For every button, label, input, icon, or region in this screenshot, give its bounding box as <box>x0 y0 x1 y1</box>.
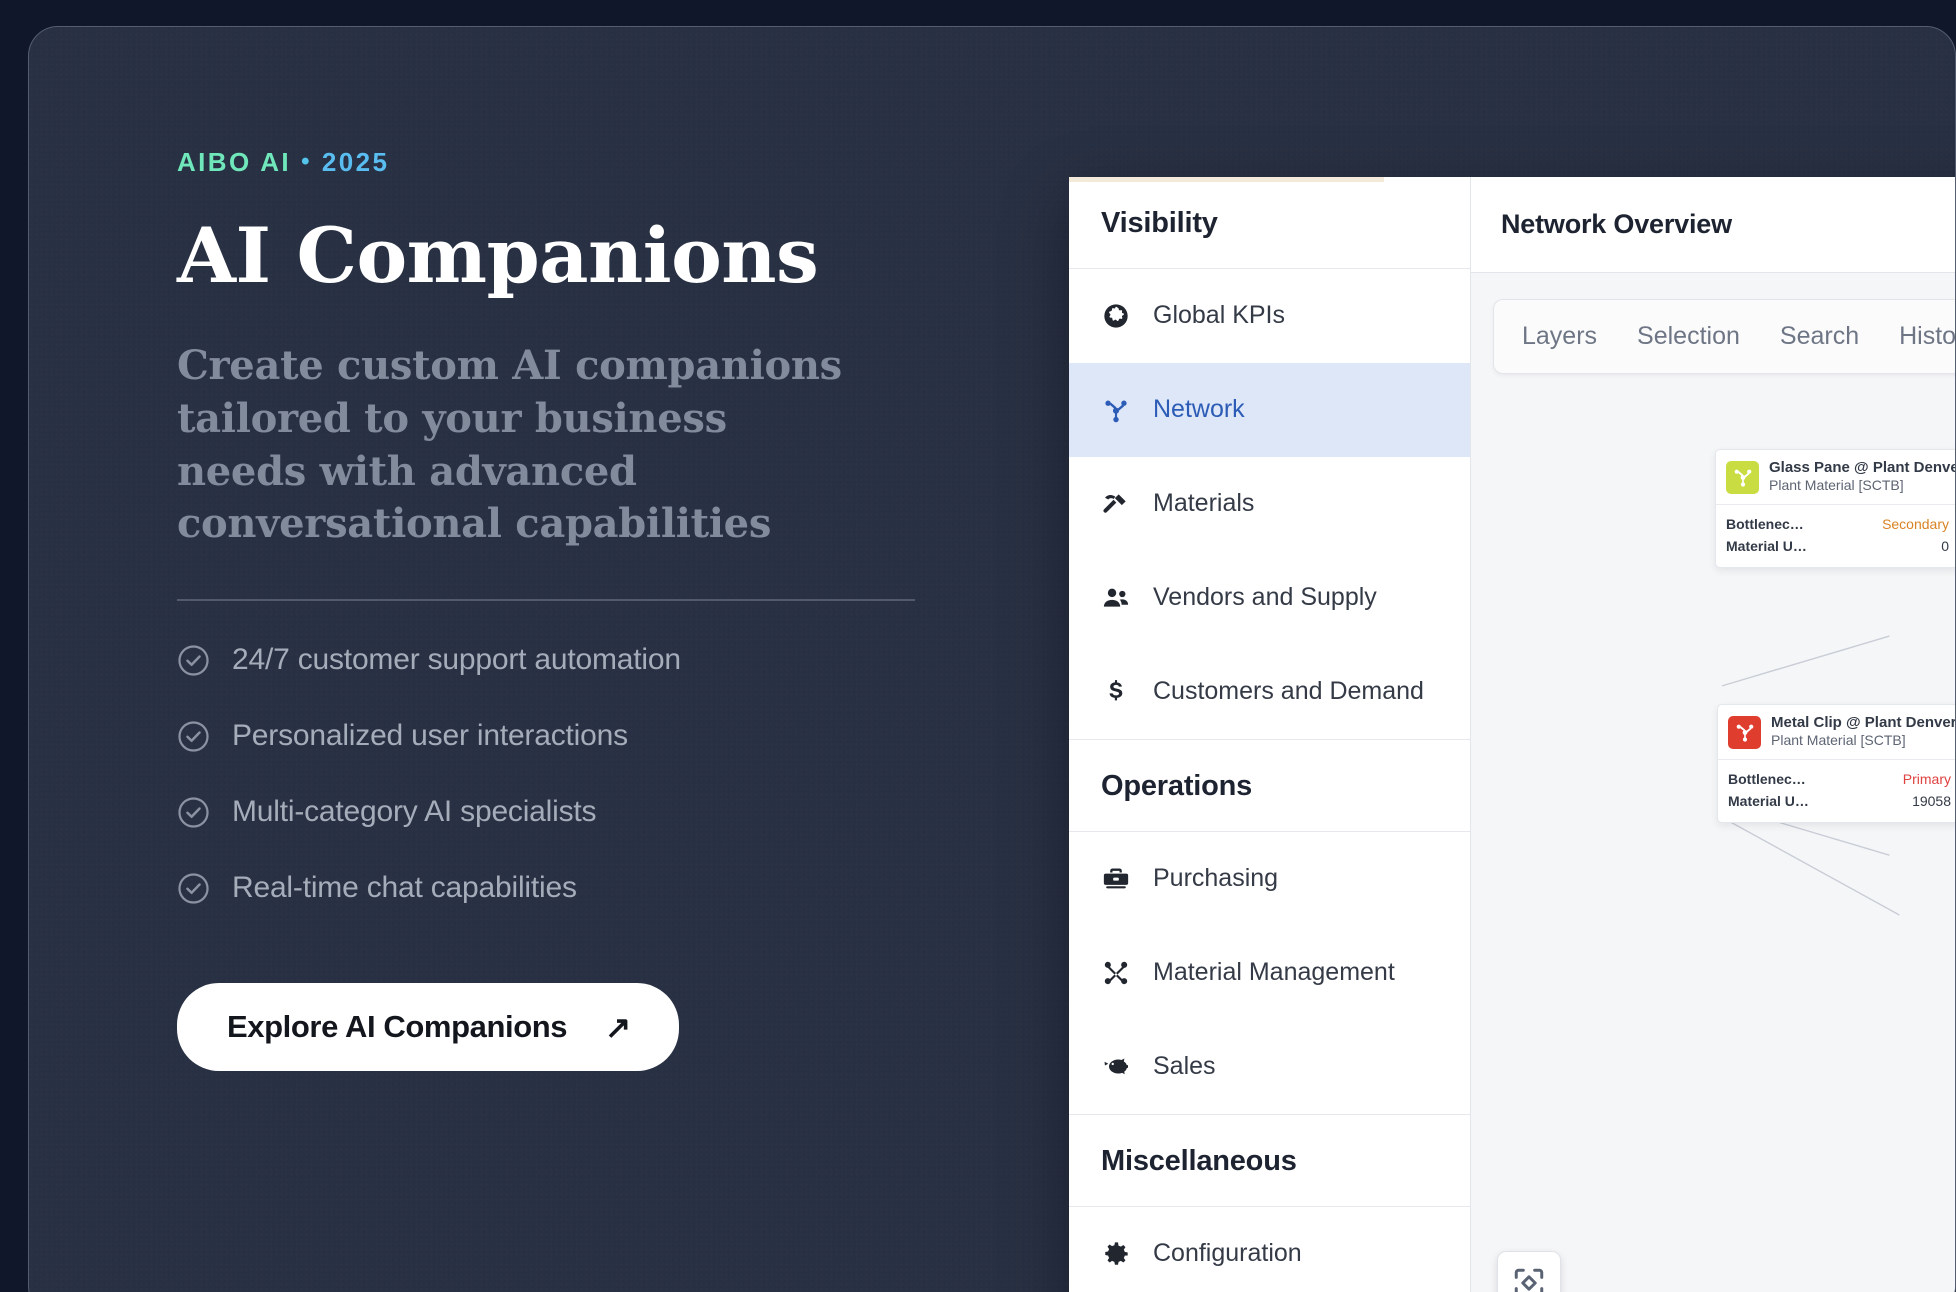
eyebrow-year: 2025 <box>322 147 389 177</box>
cta-label: Explore AI Companions <box>227 1009 567 1045</box>
list-item: Multi-category AI specialists <box>177 795 937 829</box>
node-metric-row: Bottlenec… Primary <box>1728 768 1951 790</box>
list-item-label: Personalized user interactions <box>232 719 628 753</box>
node-metrics: Bottlenec… Primary Material U… 19058 <box>1718 760 1956 822</box>
graph-toolbar-row: Layers Selection Search Histogram <box>1493 299 1956 374</box>
globe-icon <box>1101 301 1131 331</box>
hero-left-column: AIBO AI•2025 AI Companions Create custom… <box>177 147 937 1071</box>
circle-check-icon <box>177 720 210 753</box>
sidebar-item-vendors-and-supply[interactable]: Vendors and Supply <box>1069 551 1470 645</box>
sidebar-item-configuration[interactable]: Configuration <box>1069 1207 1470 1292</box>
app-main-area: Network Overview Layers Selection Search… <box>1471 177 1956 1292</box>
list-item-label: 24/7 customer support automation <box>232 643 681 677</box>
sidebar-item-label: Purchasing <box>1153 864 1278 893</box>
network-hub-icon <box>1728 716 1761 749</box>
gear-icon <box>1101 1239 1131 1269</box>
sidebar-item-label: Customers and Demand <box>1153 677 1424 706</box>
sidebar-item-network[interactable]: Network <box>1069 363 1470 457</box>
node-metrics: Bottlenec… Secondary Material U… 0 <box>1716 505 1956 567</box>
node-metric-row: Material U… 19058 <box>1728 790 1951 812</box>
graph-node-card[interactable]: Glass Pane @ Plant Denver Plant Material… <box>1715 449 1956 568</box>
eyebrow-brand: AIBO AI <box>177 147 291 177</box>
node-title-block: Metal Clip @ Plant Denver Plant Material… <box>1771 714 1951 750</box>
piggy-bank-icon <box>1101 1052 1131 1082</box>
network-graph-canvas[interactable]: Glass Pane @ Plant Denver Plant Material… <box>1471 387 1956 1292</box>
sidebar-item-label: Material Management <box>1153 958 1395 987</box>
toolbar-item-histogram[interactable]: Histogram <box>1899 322 1956 351</box>
eyebrow-separator-dot: • <box>301 148 312 175</box>
sidebar-item-sales[interactable]: Sales <box>1069 1020 1470 1114</box>
fit-to-screen-button[interactable] <box>1497 1251 1561 1292</box>
sidebar-item-customers-and-demand[interactable]: Customers and Demand <box>1069 645 1470 739</box>
fit-to-screen-icon <box>1512 1266 1546 1292</box>
app-preview-panel: Visibility Global KPIs <box>1069 177 1956 1292</box>
app-sidebar: Visibility Global KPIs <box>1069 177 1471 1292</box>
network-hub-icon <box>1101 395 1131 425</box>
node-metric-row: Bottlenec… Secondary <box>1726 513 1949 535</box>
sidebar-item-material-management[interactable]: Material Management <box>1069 926 1470 1020</box>
node-metric-value: 0 <box>1941 535 1949 557</box>
eyebrow: AIBO AI•2025 <box>177 147 937 178</box>
list-item-label: Real-time chat capabilities <box>232 871 577 905</box>
arrow-up-right-icon: ↗ <box>605 1012 631 1043</box>
node-metric-value: 19058 <box>1912 790 1951 812</box>
sidebar-item-label: Sales <box>1153 1052 1216 1081</box>
node-title-block: Glass Pane @ Plant Denver Plant Material… <box>1769 459 1949 495</box>
node-title: Metal Clip @ Plant Denver <box>1771 714 1956 731</box>
sidebar-item-label: Materials <box>1153 489 1254 518</box>
node-header: Metal Clip @ Plant Denver Plant Material… <box>1718 705 1956 760</box>
list-item: 24/7 customer support automation <box>177 643 937 677</box>
circle-check-icon <box>177 644 210 677</box>
section-divider <box>177 599 915 601</box>
toolbar-item-selection[interactable]: Selection <box>1637 322 1740 351</box>
panel-top-accent-strip <box>1069 177 1384 182</box>
sidebar-item-label: Network <box>1153 395 1245 424</box>
circle-check-icon <box>177 872 210 905</box>
hammer-icon <box>1101 489 1131 519</box>
node-subtitle: Plant Material [SCTB] <box>1771 732 1906 748</box>
node-metric-value: Secondary <box>1882 513 1949 535</box>
main-header-title: Network Overview <box>1471 177 1956 273</box>
hero-card: AIBO AI•2025 AI Companions Create custom… <box>28 26 1956 1292</box>
page-title: AI Companions <box>177 218 937 294</box>
node-metric-value: Primary <box>1903 768 1951 790</box>
toolbox-icon <box>1101 864 1131 894</box>
toolbar-item-layers[interactable]: Layers <box>1522 322 1597 351</box>
network-hub-icon <box>1726 461 1759 494</box>
feature-list: 24/7 customer support automation Persona… <box>177 643 937 905</box>
list-item-label: Multi-category AI specialists <box>232 795 596 829</box>
sidebar-item-label: Global KPIs <box>1153 301 1285 330</box>
node-metric-key: Material U… <box>1728 790 1809 812</box>
graph-node-card[interactable]: Metal Clip @ Plant Denver Plant Material… <box>1717 704 1956 823</box>
users-icon <box>1101 583 1131 613</box>
node-metric-key: Material U… <box>1726 535 1807 557</box>
node-header: Glass Pane @ Plant Denver Plant Material… <box>1716 450 1956 505</box>
circle-check-icon <box>177 796 210 829</box>
node-subtitle: Plant Material [SCTB] <box>1769 477 1904 493</box>
node-metric-key: Bottlenec… <box>1726 513 1804 535</box>
list-item: Real-time chat capabilities <box>177 871 937 905</box>
explore-ai-companions-button[interactable]: Explore AI Companions ↗ <box>177 983 679 1071</box>
node-metric-row: Material U… 0 <box>1726 535 1949 557</box>
hero-subhead: Create custom AI companions tailored to … <box>177 340 867 551</box>
node-metric-key: Bottlenec… <box>1728 768 1806 790</box>
sidebar-section-operations: Operations <box>1069 740 1470 832</box>
sidebar-item-label: Configuration <box>1153 1239 1302 1268</box>
sidebar-item-global-kpis[interactable]: Global KPIs <box>1069 269 1470 363</box>
sidebar-item-purchasing[interactable]: Purchasing <box>1069 832 1470 926</box>
list-item: Personalized user interactions <box>177 719 937 753</box>
sidebar-item-label: Vendors and Supply <box>1153 583 1377 612</box>
sidebar-section-miscellaneous: Miscellaneous <box>1069 1115 1470 1207</box>
sidebar-item-materials[interactable]: Materials <box>1069 457 1470 551</box>
graph-toolbar: Layers Selection Search Histogram <box>1493 299 1956 374</box>
nodes-icon <box>1101 958 1131 988</box>
node-title: Glass Pane @ Plant Denver <box>1769 459 1956 476</box>
toolbar-item-search[interactable]: Search <box>1780 322 1859 351</box>
sidebar-section-visibility: Visibility <box>1069 177 1470 269</box>
dollar-icon <box>1101 677 1131 707</box>
screenshot-root: AIBO AI•2025 AI Companions Create custom… <box>0 0 1956 1292</box>
